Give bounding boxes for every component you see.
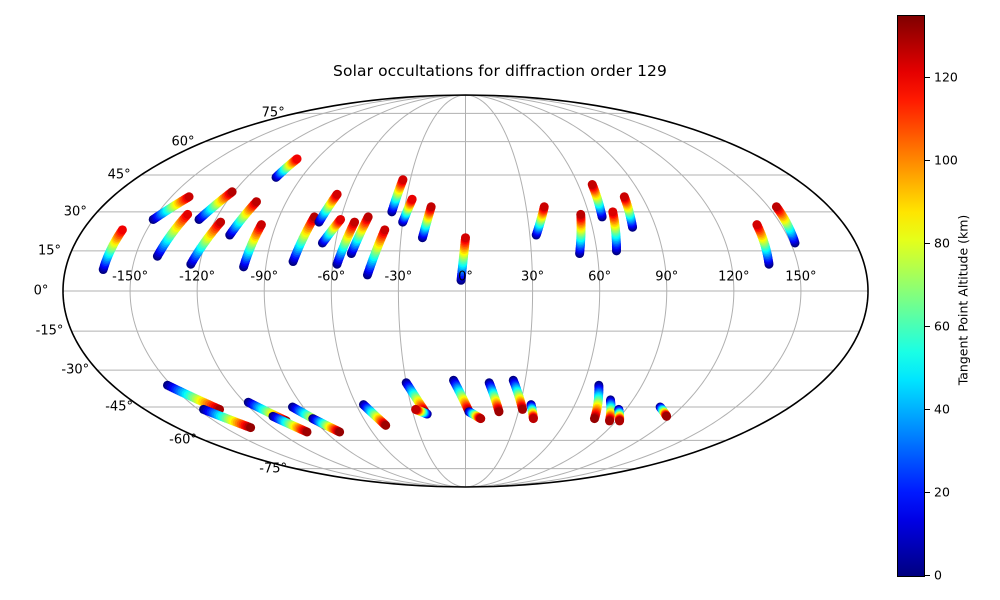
lat-tick-label: -45° <box>105 400 133 415</box>
occultation-track <box>608 207 621 255</box>
occultation-track <box>485 378 504 416</box>
colorbar-tick-label: 40 <box>934 402 950 417</box>
occultation-track <box>199 405 255 432</box>
occultation-track <box>163 381 224 414</box>
lon-tick-label: 120° <box>718 270 749 285</box>
occultation-track <box>614 405 624 426</box>
colorbar-axis-label: Tangent Point Altitude (km) <box>956 215 971 386</box>
lon-tick-label: -120° <box>179 270 215 285</box>
occultation-track <box>99 225 127 274</box>
occultation-tracks <box>99 154 800 436</box>
figure-canvas: Solar occultations for diffraction order… <box>0 0 1000 600</box>
occultation-track <box>272 154 302 181</box>
lon-tick-label: 60° <box>588 270 611 285</box>
occultation-track <box>359 400 390 430</box>
occultation-track <box>239 220 266 271</box>
occultation-track <box>588 180 607 221</box>
lon-tick-label: -150° <box>112 270 148 285</box>
occultation-track <box>527 400 538 423</box>
lon-tick-label: 150° <box>785 270 816 285</box>
occultation-track <box>772 202 800 247</box>
occultation-track <box>752 220 773 269</box>
graticule-grid <box>63 95 868 487</box>
colorbar-tick-label: 60 <box>934 319 950 334</box>
lat-tick-label: -15° <box>36 324 64 339</box>
lat-tick-label: -60° <box>169 433 197 448</box>
colorbar-tick <box>924 77 930 78</box>
colorbar-tick-label: 0 <box>934 568 942 583</box>
lon-tick-label: 0° <box>458 270 473 285</box>
colorbar-tick <box>924 409 930 410</box>
lat-tick-label: 30° <box>64 204 87 219</box>
lon-tick-label: -60° <box>317 270 345 285</box>
lat-tick-label: 45° <box>108 167 131 182</box>
lat-tick-label: 60° <box>172 134 195 149</box>
occultation-track <box>465 407 486 423</box>
mollweide-map: -150°-120°-90°-60°-30°0°30°60°90°120°150… <box>0 0 1000 600</box>
lon-tick-label: 30° <box>521 270 544 285</box>
occultation-track <box>289 212 319 266</box>
occultation-track <box>532 202 549 239</box>
occultation-track <box>605 395 615 425</box>
lon-tick-label: 90° <box>655 270 678 285</box>
lat-tick-label: 15° <box>38 243 61 258</box>
lat-tick-label: -30° <box>61 363 89 378</box>
colorbar-tick <box>924 326 930 327</box>
occultation-track <box>418 202 436 242</box>
colorbar-tick-label: 120 <box>934 70 958 85</box>
lat-tick-label: 0° <box>34 284 49 299</box>
occultation-track <box>590 381 603 423</box>
colorbar-tick-label: 80 <box>934 236 950 251</box>
colorbar-tick <box>924 160 930 161</box>
colorbar-tick-label: 100 <box>934 153 958 168</box>
colorbar-gradient <box>898 16 924 576</box>
lat-tick-label: 75° <box>262 106 285 121</box>
colorbar-tick <box>924 492 930 493</box>
colorbar-tick <box>924 243 930 244</box>
lon-tick-label: -30° <box>385 270 413 285</box>
occultation-track <box>509 376 527 414</box>
lon-tick-label: -90° <box>250 270 278 285</box>
occultation-track <box>656 403 672 421</box>
colorbar-tick <box>924 575 930 576</box>
colorbar-tick-label: 20 <box>934 485 950 500</box>
map-svg <box>0 0 1000 600</box>
lat-tick-label: -75° <box>259 461 287 476</box>
occultation-track <box>398 195 416 227</box>
occultation-track <box>195 187 237 224</box>
occultation-track <box>575 210 585 258</box>
colorbar[interactable] <box>897 15 925 577</box>
occultation-track <box>186 218 225 269</box>
